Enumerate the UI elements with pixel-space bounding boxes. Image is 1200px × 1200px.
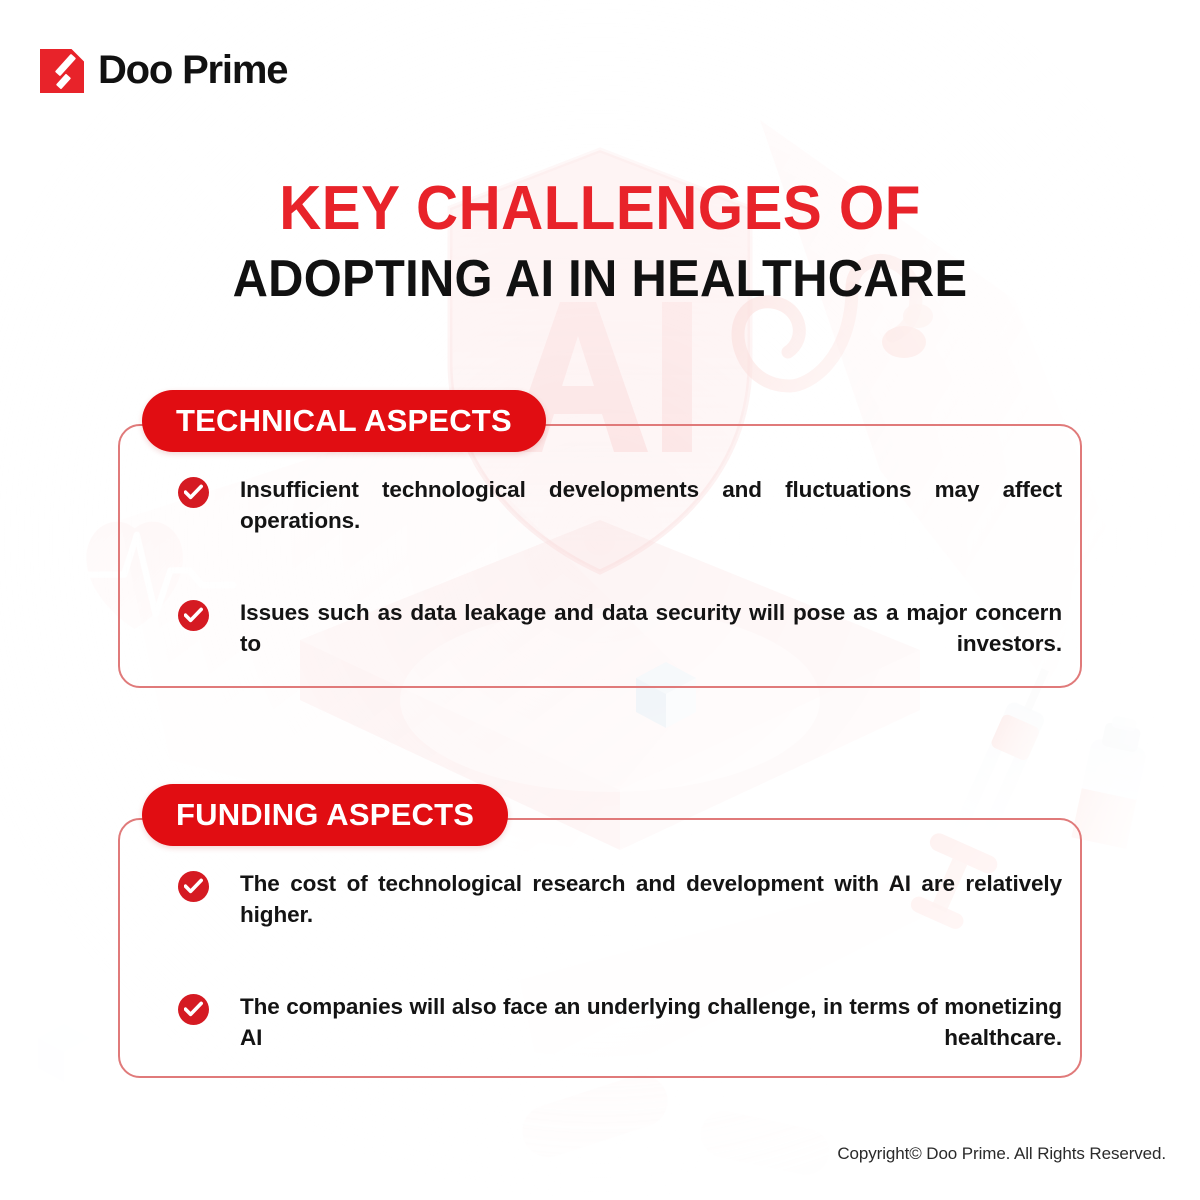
section-badge-label: FUNDING ASPECTS: [176, 797, 474, 833]
list-item: Insufficient technological developments …: [178, 474, 1062, 567]
brand-logo[interactable]: Doo Prime: [40, 48, 287, 93]
title-line-secondary: ADOPTING AI IN HEALTHCARE: [36, 250, 1164, 308]
logo-slash-upper: [55, 53, 76, 76]
check-circle-icon: [178, 477, 209, 508]
section-badge-technical[interactable]: TECHNICAL ASPECTS: [142, 390, 546, 452]
bullet-list-funding: The cost of technological research and d…: [178, 868, 1062, 1084]
infographic-poster: Doo Prime KEY CHALLENGES OF ADOPTING AI …: [0, 0, 1200, 1200]
list-item: The companies will also face an underlyi…: [178, 991, 1062, 1084]
logo-slash-lower: [56, 73, 71, 89]
list-item: The cost of technological research and d…: [178, 868, 1062, 961]
check-circle-icon: [178, 871, 209, 902]
check-circle-icon: [178, 600, 209, 631]
section-card-funding: FUNDING ASPECTS The cost of technologica…: [118, 818, 1082, 1078]
list-item-text: Insufficient technological developments …: [240, 474, 1062, 567]
list-item: Issues such as data leakage and data sec…: [178, 597, 1062, 690]
doo-prime-logo-mark-icon: [40, 49, 84, 93]
section-badge-label: TECHNICAL ASPECTS: [176, 403, 512, 439]
list-item-text: Issues such as data leakage and data sec…: [240, 597, 1062, 690]
list-item-text: The cost of technological research and d…: [240, 868, 1062, 961]
section-card-technical: TECHNICAL ASPECTS Insufficient technolog…: [118, 424, 1082, 688]
brand-name: Doo Prime: [98, 48, 287, 93]
title-line-primary: KEY CHALLENGES OF: [36, 176, 1164, 242]
page-title: KEY CHALLENGES OF ADOPTING AI IN HEALTHC…: [0, 176, 1200, 308]
check-circle-icon: [178, 994, 209, 1025]
copyright-notice: Copyright© Doo Prime. All Rights Reserve…: [837, 1144, 1166, 1164]
section-badge-funding[interactable]: FUNDING ASPECTS: [142, 784, 508, 846]
bullet-list-technical: Insufficient technological developments …: [178, 474, 1062, 690]
list-item-text: The companies will also face an underlyi…: [240, 991, 1062, 1084]
